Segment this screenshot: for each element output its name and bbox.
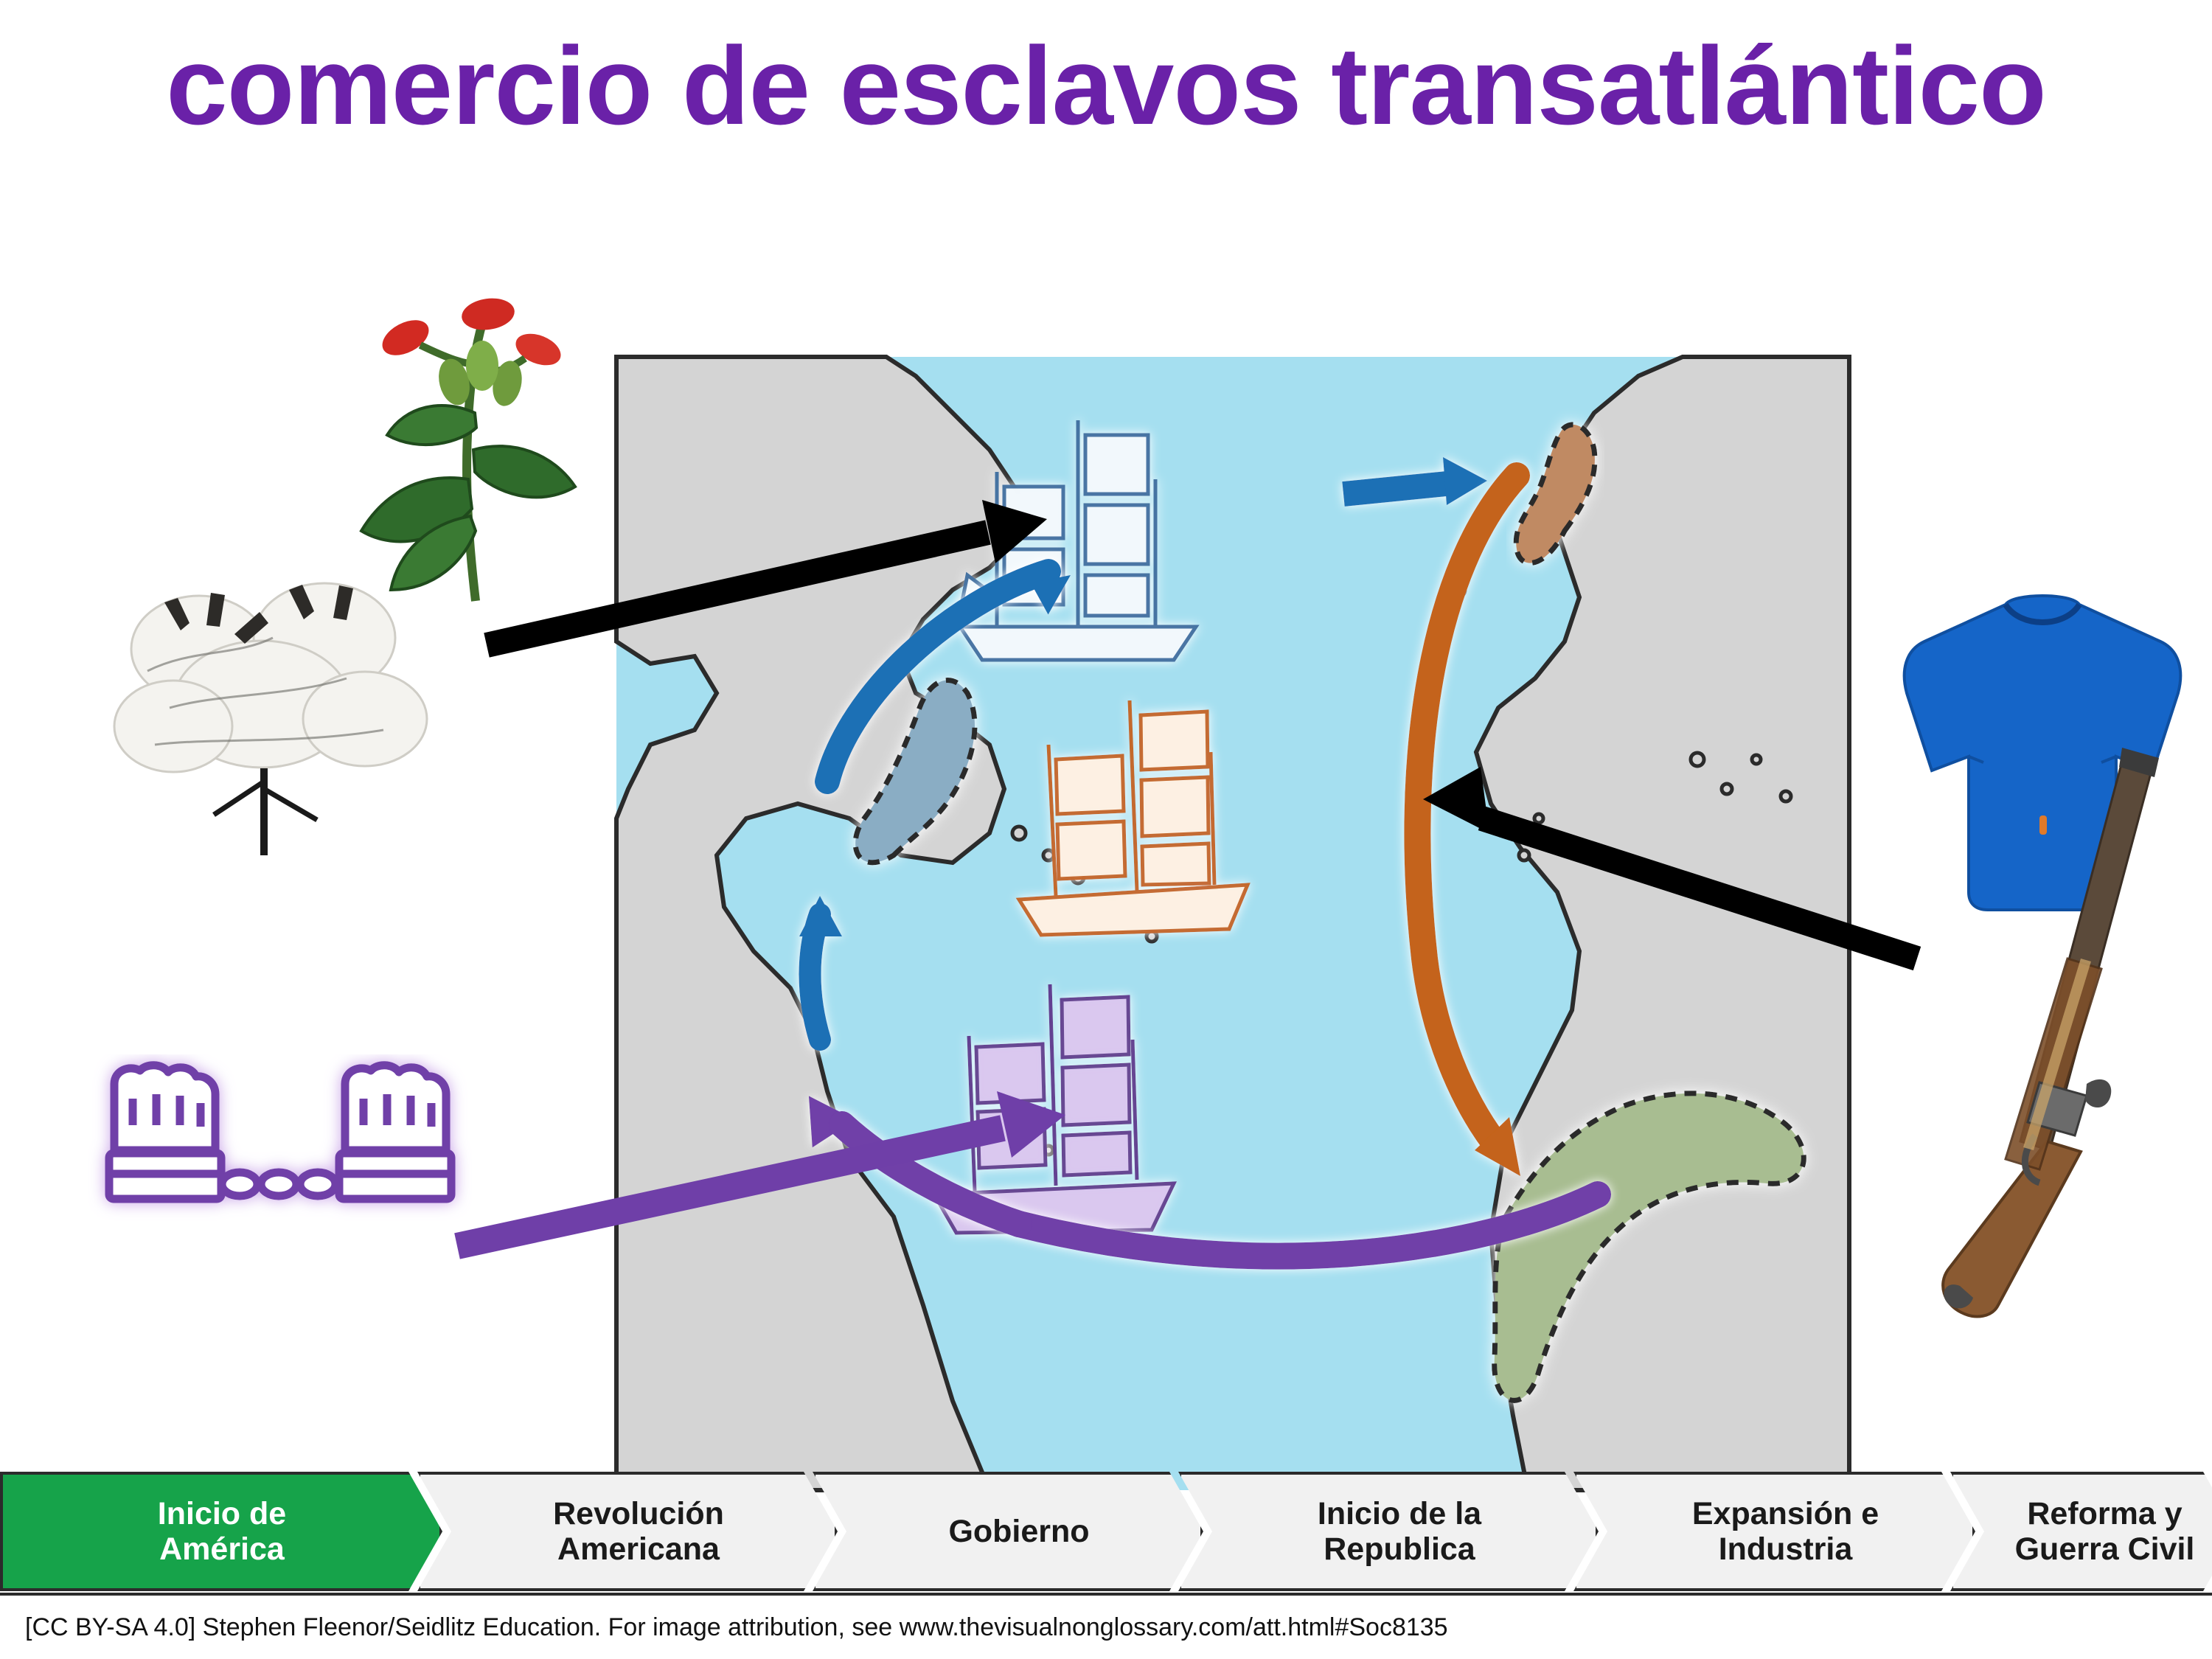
timeline-item-inicio-de-america[interactable]: Inicio de América — [0, 1472, 442, 1591]
timeline-item-label-line1: Inicio de la — [1318, 1496, 1481, 1531]
timeline-item-gobierno[interactable]: Gobierno — [813, 1472, 1203, 1591]
timeline-item-revolucion-americana[interactable]: Revolución Americana — [417, 1472, 838, 1591]
arrow-raw-goods-to-ship — [472, 487, 1077, 671]
timeline-item-label-line2: Guerra Civil — [2015, 1531, 2195, 1567]
timeline-item-label-line1: Revolución — [553, 1496, 724, 1531]
timeline-item-label-line1: Inicio de — [158, 1496, 286, 1531]
arrow-slaves-input — [442, 1062, 1106, 1268]
attribution-footer: [CC BY-SA 4.0] Stephen Fleenor/Seidlitz … — [0, 1593, 2212, 1659]
timeline-item-label-line1: Expansión e — [1692, 1496, 1879, 1531]
timeline-item-label-line1: Gobierno — [948, 1514, 1089, 1549]
timeline-item-label-line2: Industria — [1692, 1531, 1879, 1567]
timeline-nav[interactable]: Inicio de América Revolución Americana G… — [0, 1472, 2212, 1591]
timeline-item-label-line1: Reforma y — [2015, 1496, 2195, 1531]
shackled-hands-icon — [88, 1054, 472, 1305]
timeline-item-reforma-y-guerra-civil[interactable]: Reforma y Guerra Civil — [1950, 1472, 2212, 1591]
cotton-boll-image — [103, 560, 457, 870]
timeline-item-label-line2: América — [158, 1531, 286, 1567]
timeline-item-label-line2: Republica — [1318, 1531, 1481, 1567]
attribution-text: [CC BY-SA 4.0] Stephen Fleenor/Seidlitz … — [25, 1613, 1448, 1642]
arrow-goods-to-ship — [1386, 759, 1932, 981]
timeline-item-expansion-e-industria[interactable]: Expansión e Industria — [1573, 1472, 1975, 1591]
timeline-item-inicio-de-la-republica[interactable]: Inicio de la Republica — [1178, 1472, 1599, 1591]
diagram-illustration — [0, 0, 2212, 1475]
timeline-item-label-line2: Americana — [553, 1531, 724, 1567]
